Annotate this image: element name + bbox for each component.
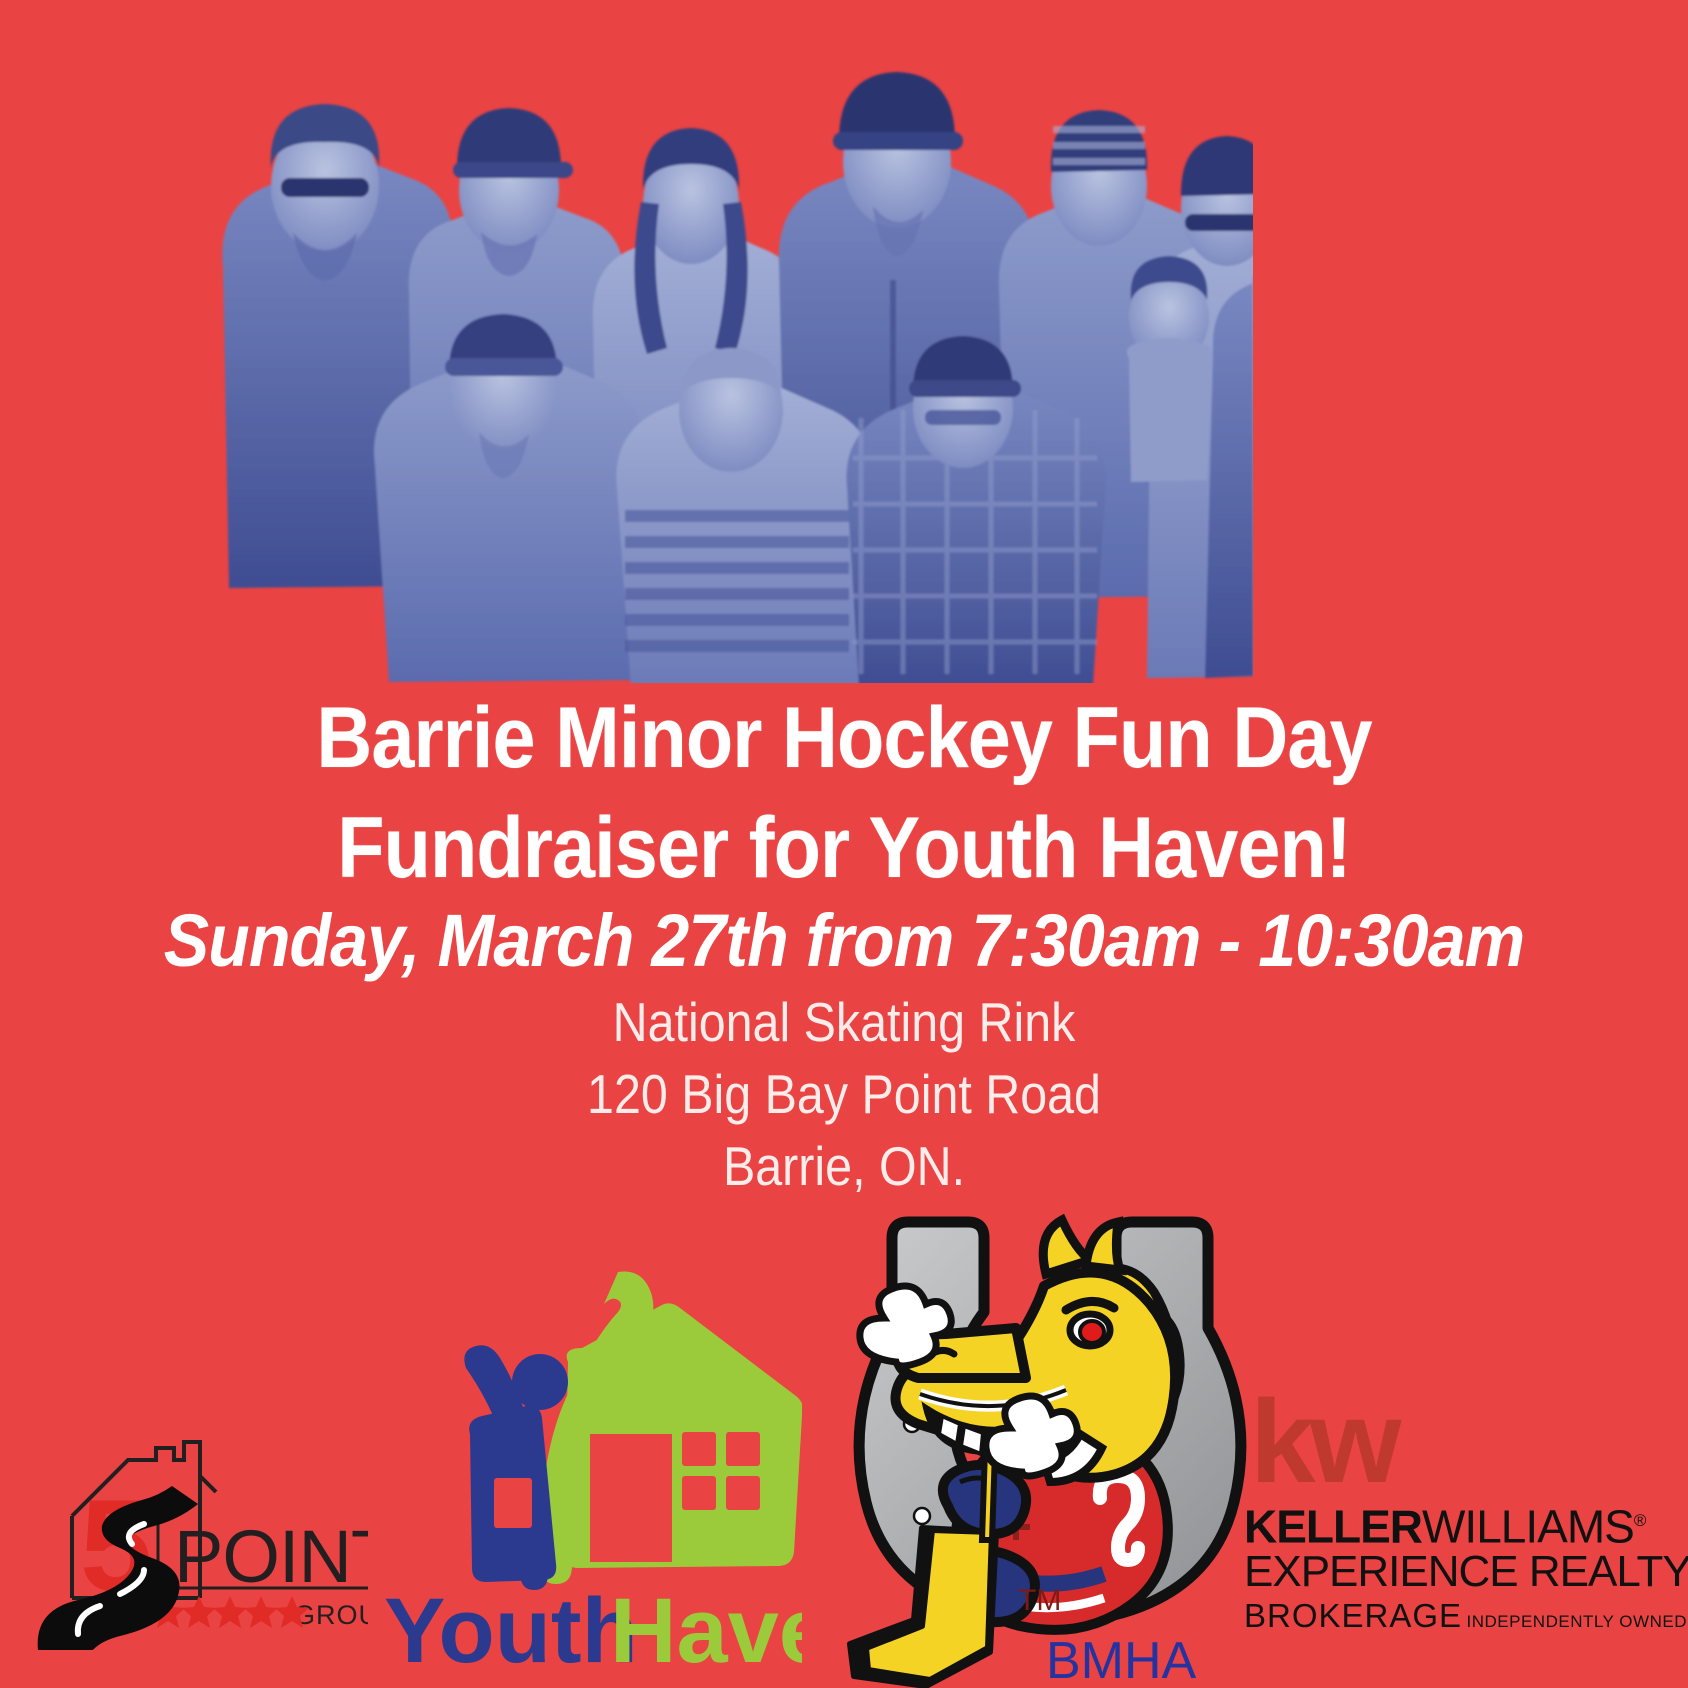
youth-haven-logo: Youth Haven: [382, 1210, 802, 1682]
venue-street: 120 Big Bay Point Road: [101, 1062, 1586, 1126]
headline-line-1: Barrie Minor Hockey Fun Day: [84, 690, 1603, 786]
event-date-time: Sunday, March 27th from 7:30am - 10:30am: [68, 898, 1621, 984]
barrie-colts-bmha-logo: TM BMHA: [800, 1180, 1250, 1688]
youth-haven-logo-icon: Youth Haven: [382, 1210, 802, 1682]
kw-monogram: kw: [1250, 1390, 1674, 1494]
youth-haven-word-haven: Haven: [610, 1580, 802, 1682]
bmha-text: BMHA: [1046, 1632, 1197, 1688]
keller-williams-logo: kw KELLERWILLIAMS® EXPERIENCE REALTY BRO…: [1244, 1390, 1674, 1680]
five-points-group-logo: 5 POINTS GROUP: [28, 1420, 368, 1650]
colts-mascot-icon: TM BMHA: [800, 1180, 1250, 1688]
poster-canvas: Barrie Minor Hockey Fun Day Fundraiser f…: [0, 0, 1688, 1688]
group-photo-illustration: [213, 18, 1253, 683]
kw-registered-mark: ®: [1634, 1511, 1646, 1530]
kw-name-light: WILLIAMS: [1422, 1500, 1634, 1552]
headline-line-2: Fundraiser for Youth Haven!: [84, 800, 1603, 896]
kw-tagline: EXPERIENCE REALTY: [1244, 1549, 1674, 1595]
kw-brokerage-text: BROKERAGE: [1244, 1597, 1462, 1634]
five-points-logo-icon: 5 POINTS GROUP: [28, 1420, 368, 1650]
svg-text:GROUP: GROUP: [294, 1600, 368, 1630]
venue-name: National Skating Rink: [101, 990, 1586, 1054]
svg-text:POINTS: POINTS: [174, 1515, 368, 1598]
kw-name-bold: KELLER: [1244, 1500, 1422, 1552]
kw-independent-text: INDEPENDENTLY OWNED & OPERATED: [1467, 1612, 1688, 1631]
youth-haven-word-youth: Youth: [384, 1580, 638, 1682]
kw-name-line: KELLERWILLIAMS®: [1244, 1498, 1674, 1549]
group-photo: [213, 18, 1253, 683]
trademark-text: TM: [1018, 1584, 1061, 1617]
kw-brokerage-line: BROKERAGE INDEPENDENTLY OWNED & OPERATED: [1244, 1597, 1674, 1635]
